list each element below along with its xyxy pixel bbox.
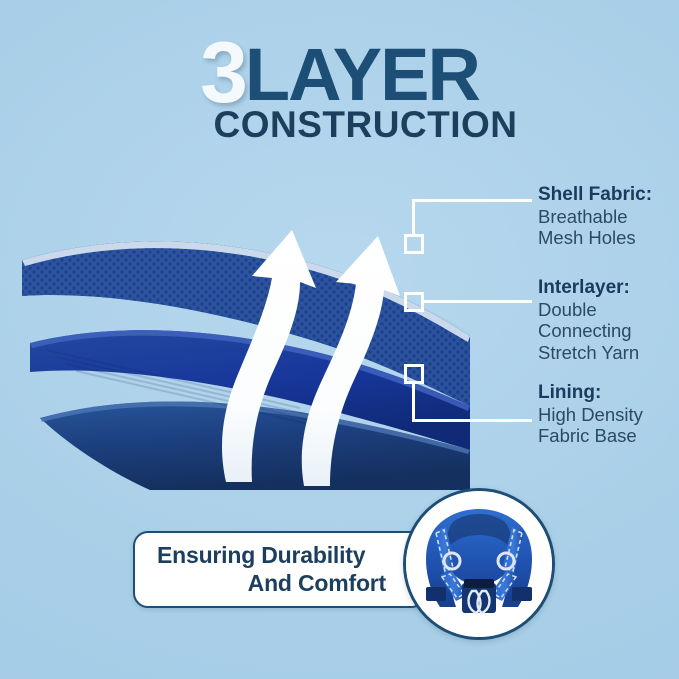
callout-line1-shell-fabric: Breathable: [538, 206, 652, 227]
title-word-layer: LAYER: [245, 43, 479, 107]
callout-connector-horizontal-lining: [412, 419, 532, 422]
tagline-line-1: Ensuring Durability: [151, 542, 408, 569]
callout-label-interlayer: Interlayer: Double Connecting Stretch Ya…: [538, 277, 639, 363]
callout-connector-horizontal-shell: [412, 199, 532, 202]
callout-marker-interlayer-icon[interactable]: [404, 292, 424, 312]
callout-heading-shell-fabric: Shell Fabric:: [538, 184, 652, 206]
product-image-circle[interactable]: [403, 488, 555, 640]
callout-marker-shell-fabric-icon[interactable]: [404, 234, 424, 254]
callout-marker-lining-icon[interactable]: [404, 364, 424, 384]
callout-heading-interlayer: Interlayer:: [538, 277, 639, 299]
infographic-poster: 3 LAYER CONSTRUCTION: [0, 0, 679, 679]
title-line-1: 3 LAYER: [0, 34, 679, 108]
callout-connector-vertical-lining: [412, 383, 415, 422]
page-title: 3 LAYER CONSTRUCTION: [0, 34, 679, 146]
callout-label-lining: Lining: High Density Fabric Base: [538, 382, 643, 447]
callout-line2-lining: Fabric Base: [538, 425, 643, 446]
callout-line1-interlayer: Double: [538, 299, 639, 320]
callout-line1-lining: High Density: [538, 404, 643, 425]
layer-count-number: 3: [200, 37, 245, 111]
callout-line2-shell-fabric: Mesh Holes: [538, 227, 652, 248]
tagline-banner: Ensuring Durability And Comfort: [133, 531, 426, 608]
callout-connector-horizontal-interlayer: [423, 300, 532, 303]
title-subtitle: CONSTRUCTION: [0, 104, 679, 146]
callout-line3-interlayer: Stretch Yarn: [538, 342, 639, 363]
dog-harness-icon: [406, 491, 552, 637]
fabric-layer-stack-illustration: [0, 150, 470, 490]
callout-label-shell-fabric: Shell Fabric: Breathable Mesh Holes: [538, 184, 652, 249]
callout-line2-interlayer: Connecting: [538, 320, 639, 341]
callout-heading-lining: Lining:: [538, 382, 643, 404]
callout-connector-vertical-shell: [412, 199, 415, 236]
tagline-line-2: And Comfort: [151, 570, 408, 597]
